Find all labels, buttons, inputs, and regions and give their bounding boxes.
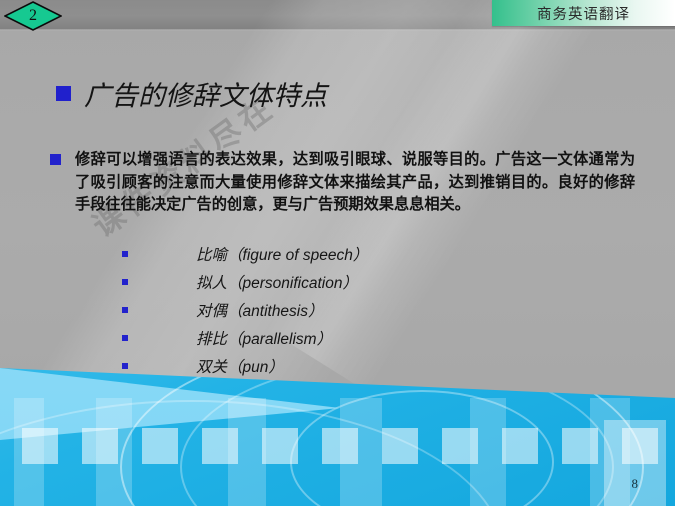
page-number-plate — [604, 420, 666, 506]
list-item: 排比（parallelism） — [122, 324, 522, 352]
small-square-bullet-icon — [122, 307, 128, 313]
top-header-strip-edge — [0, 29, 675, 31]
body-paragraph: 修辞可以增强语言的表达效果，达到吸引眼球、说服等目的。广告这一文体通常为了吸引顾… — [50, 148, 635, 216]
slide-title-label: 广告的修辞文体特点 — [84, 74, 327, 113]
list-item-label: 排比（parallelism） — [196, 327, 332, 349]
square-bullet-icon — [56, 86, 71, 101]
small-square-bullet-icon — [122, 279, 128, 285]
slide-number-label: 2 — [4, 1, 62, 31]
square-bullet-icon — [50, 154, 61, 165]
small-square-bullet-icon — [122, 251, 128, 257]
body-paragraph-text: 修辞可以增强语言的表达效果，达到吸引眼球、说服等目的。广告这一文体通常为了吸引顾… — [75, 148, 635, 216]
list-item-label: 比喻（figure of speech） — [196, 243, 368, 265]
slide-number-badge: 2 — [4, 1, 62, 31]
page-number-label: 8 — [632, 476, 639, 492]
slide-title: 广告的修辞文体特点 — [56, 74, 327, 113]
list-item: 比喻（figure of speech） — [122, 240, 522, 268]
course-title-banner: 商务英语翻译 — [492, 0, 675, 26]
small-square-bullet-icon — [122, 363, 128, 369]
slide-canvas: 课件资料尽在 2 商务英语翻译 广告的修辞文体特点 修辞可以增强语言的表达效果，… — [0, 0, 675, 506]
list-item-label: 双关（pun） — [196, 355, 284, 377]
course-title-label: 商务英语翻译 — [537, 3, 630, 24]
list-item: 双关（pun） — [122, 352, 522, 380]
list-item: 对偶（antithesis） — [122, 296, 522, 324]
list-item: 拟人（personification） — [122, 268, 522, 296]
small-square-bullet-icon — [122, 335, 128, 341]
list-item-label: 对偶（antithesis） — [196, 299, 324, 321]
list-item-label: 拟人（personification） — [196, 271, 358, 293]
